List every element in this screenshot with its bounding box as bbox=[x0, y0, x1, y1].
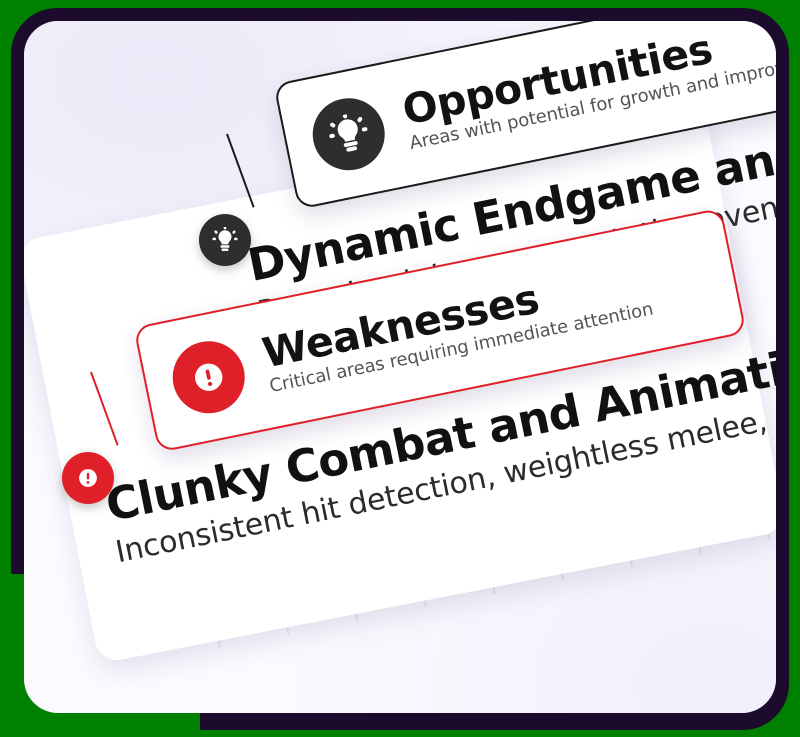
alert-circle-icon bbox=[166, 335, 251, 420]
content-surface: Dynamic Endgame and Proce Procedural dun… bbox=[24, 21, 776, 713]
alert-circle-icon bbox=[75, 465, 101, 491]
lightbulb-icon bbox=[212, 227, 238, 253]
lightbulb-icon bbox=[306, 92, 391, 177]
opportunities-connector-line bbox=[226, 134, 255, 208]
opportunities-titles: Opportunities Areas with potential for g… bbox=[399, 21, 776, 154]
screenshot-stage: Dynamic Endgame and Proce Procedural dun… bbox=[0, 0, 800, 737]
opportunities-badge[interactable] bbox=[199, 214, 251, 266]
weaknesses-badge[interactable] bbox=[62, 452, 114, 504]
